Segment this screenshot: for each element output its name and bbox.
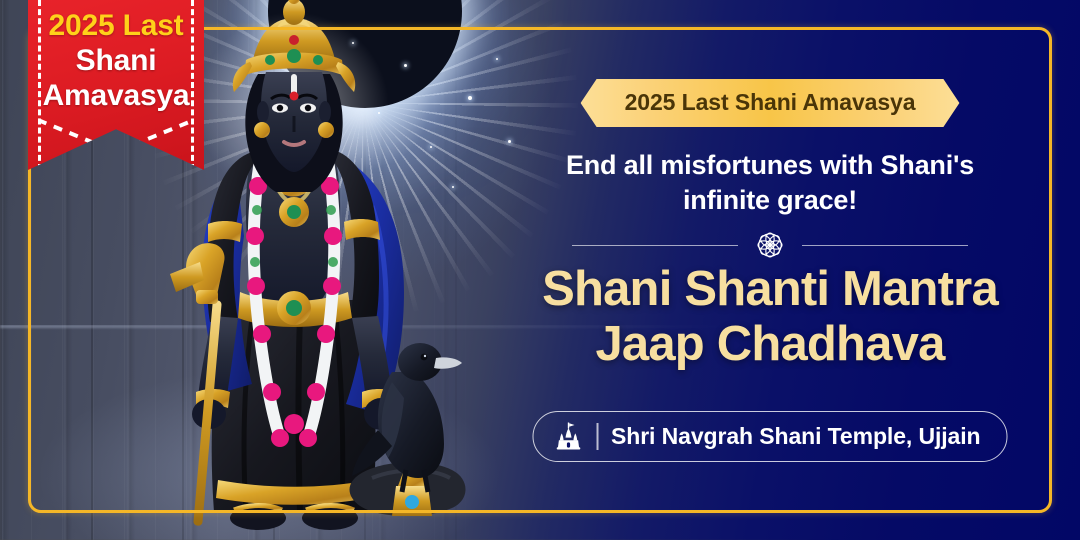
ornamental-divider <box>572 228 968 262</box>
temple-icon <box>554 421 584 451</box>
headline-line-2: Jaap Chadhava <box>500 317 1040 372</box>
temple-name-label: Shri Navgrah Shani Temple, Ujjain <box>611 423 980 450</box>
flag-line-2: Shani <box>28 44 204 79</box>
content-column: 2025 Last Shani Amavasya End all misfort… <box>500 0 1040 540</box>
subheading-line-1: End all misfortunes with Shani's <box>526 148 1014 183</box>
rosette-ornament-icon <box>753 228 787 262</box>
flag-line-3: Amavasya <box>28 79 204 114</box>
event-ribbon-badge: 2025 Last Shani Amavasya <box>581 79 960 127</box>
flag-text: 2025 Last Shani Amavasya <box>28 9 204 113</box>
temple-location-pill[interactable]: Shri Navgrah Shani Temple, Ujjain <box>533 411 1008 462</box>
headline-line-1: Shani Shanti Mantra <box>500 262 1040 317</box>
subheading-line-2: infinite grace! <box>526 183 1014 218</box>
divider-rule-left <box>572 245 738 246</box>
subheading: End all misfortunes with Shani's infinit… <box>526 148 1014 218</box>
flag-line-1: 2025 Last <box>28 9 204 44</box>
headline: Shani Shanti Mantra Jaap Chadhava <box>500 262 1040 372</box>
pill-separator <box>597 423 599 450</box>
promo-banner: 2025 Last Shani Amavasya 2025 Last Shani… <box>0 0 1080 540</box>
divider-rule-right <box>802 245 968 246</box>
